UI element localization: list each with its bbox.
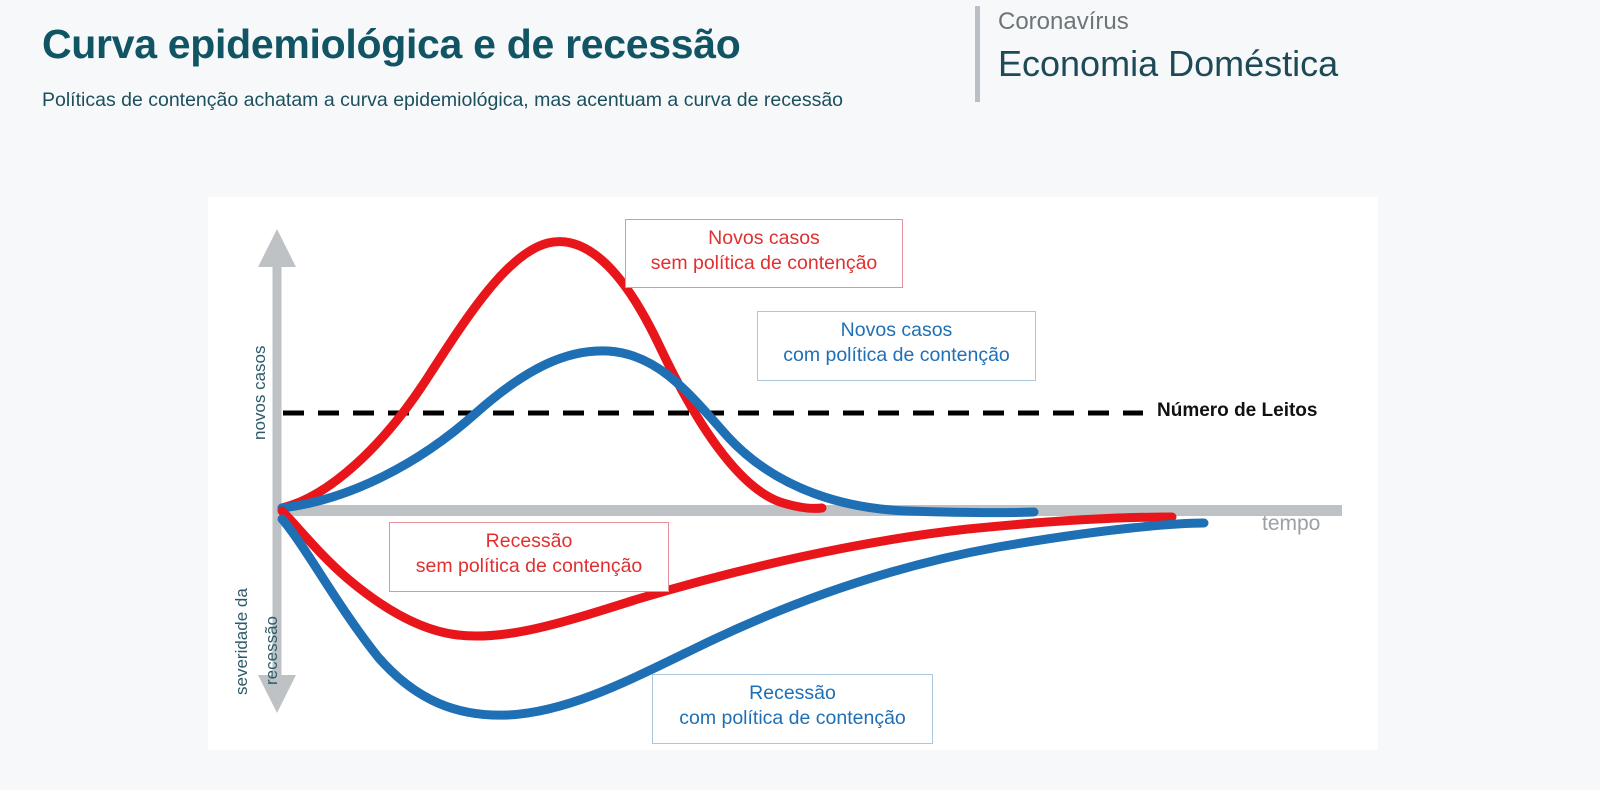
callout-recession-with-policy: Recessão com política de contenção <box>652 674 933 744</box>
callout-line-2: sem política de contenção <box>636 251 892 276</box>
callout-line-2: sem política de contenção <box>400 554 658 579</box>
y-axis-label-recession-line2: recessão <box>262 616 282 685</box>
page-title: Curva epidemiológica e de recessão <box>42 22 942 67</box>
kicker-label: Coronavírus <box>998 8 1338 36</box>
callout-line-1: Recessão <box>663 681 922 706</box>
callout-line-2: com política de contenção <box>663 706 922 731</box>
header-left: Curva epidemiológica e de recessão Polít… <box>42 22 942 115</box>
callout-cases-without-policy: Novos casos sem política de contenção <box>625 219 903 288</box>
header-right-text: Coronavírus Economia Doméstica <box>998 6 1338 85</box>
section-title: Economia Doméstica <box>998 42 1338 85</box>
beds-threshold-label: Número de Leitos <box>1157 400 1317 422</box>
y-axis-label-new-cases: novos casos <box>250 346 270 441</box>
callout-line-1: Novos casos <box>636 226 892 251</box>
callout-line-1: Recessão <box>400 529 658 554</box>
header-vertical-rule <box>975 6 980 102</box>
header-right: Coronavírus Economia Doméstica <box>975 6 1338 102</box>
page-subtitle: Políticas de contenção achatam a curva e… <box>42 85 912 115</box>
callout-recession-without-policy: Recessão sem política de contenção <box>389 522 669 592</box>
callout-line-1: Novos casos <box>768 318 1025 343</box>
callout-line-2: com política de contenção <box>768 343 1025 368</box>
x-axis-label-time: tempo <box>1262 512 1320 536</box>
y-axis-label-recession-line1: severidade da <box>232 588 252 695</box>
callout-cases-with-policy: Novos casos com política de contenção <box>757 311 1036 381</box>
